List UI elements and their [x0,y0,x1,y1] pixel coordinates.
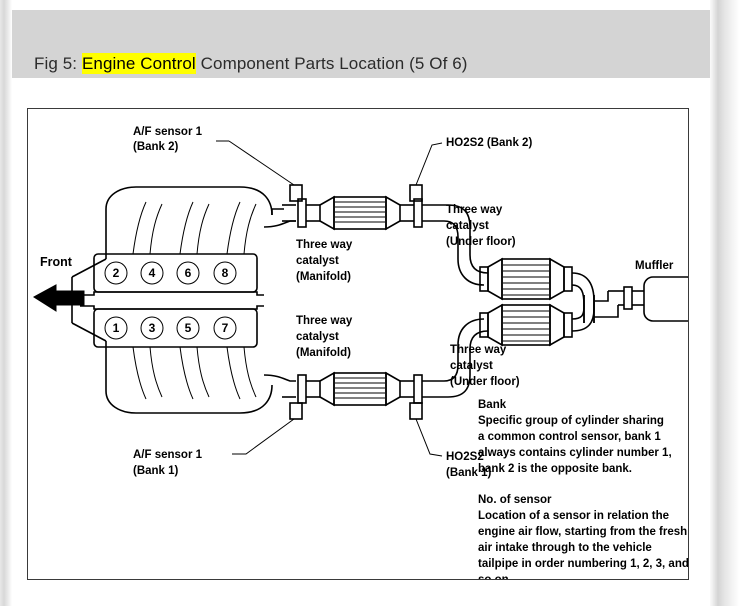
exhaust-collector [584,291,618,323]
af-sensor-bank2-line1: A/F sensor 1 [133,126,203,138]
cylinder-label: 2 [113,266,120,280]
three-way-catalyst-underfloor-top [480,259,594,323]
front-direction-arrow: Front [34,255,84,311]
engine-valley [80,292,264,309]
twc-underfloor-bottom-line1: Three way [450,344,507,356]
note-bank: Bank Specific group of cylinder sharing … [478,399,672,475]
label-ho2s2-bank2: HO2S2 (Bank 2) [446,137,532,149]
twc-manifold-top-line3: (Manifold) [296,271,351,283]
engine-block-outline [72,187,272,413]
exhaust-runners-top [133,202,256,254]
figure-frame: 2 4 6 8 1 3 5 7 Front [27,108,689,580]
twc-underfloor-bottom-line2: catalyst [450,360,493,372]
caption-suffix: Component Parts Location (5 Of 6) [196,54,468,73]
ho2s2-bank2-label: HO2S2 (Bank 2) [446,137,532,149]
page-background: Fig 5: Engine Control Component Parts Lo… [0,0,739,606]
front-label: Front [40,255,73,269]
cylinder-label: 3 [149,321,156,335]
three-way-catalyst-underfloor-bottom [480,295,594,345]
af-sensor-bank2-line2: (Bank 2) [133,141,179,153]
muffler-label: Muffler [635,260,674,272]
twc-manifold-bottom-line1: Three way [296,315,353,327]
label-af-sensor-bank2: A/F sensor 1 (Bank 2) [133,126,203,153]
twc-manifold-bottom-line2: catalyst [296,331,339,343]
ho2s2-bank1-device [410,403,422,419]
note-sensor-number: No. of sensor Location of a sensor in re… [478,494,688,579]
twc-underfloor-top-line1: Three way [446,204,503,216]
label-muffler: Muffler [635,260,674,272]
cylinder-numbers-top: 2 4 6 8 [105,262,236,284]
figure-caption: Fig 5: Engine Control Component Parts Lo… [34,54,468,74]
sensor-note-line: engine air flow, starting from the fresh [478,526,687,538]
label-twc-underfloor-bottom: Three way catalyst (Under floor) [450,344,520,388]
bank-note-line: bank 2 is the opposite bank. [478,463,632,475]
cylinder-label: 4 [149,266,156,280]
af-sensor-bank1-device [290,403,302,419]
caption-prefix: Fig 5: [34,54,82,73]
af-sensor-bank1-line2: (Bank 1) [133,465,179,477]
sensor-note-line: tailpipe in order numbering 1, 2, 3, and [478,558,688,570]
figure-caption-bar: Fig 5: Engine Control Component Parts Lo… [12,10,710,78]
label-twc-manifold-top: Three way catalyst (Manifold) [296,239,353,283]
caption-highlight: Engine Control [82,53,196,74]
twc-underfloor-top-line3: (Under floor) [446,236,516,248]
cylinder-label: 8 [222,266,229,280]
twc-manifold-bottom-line3: (Manifold) [296,347,351,359]
af-sensor-bank1-line1: A/F sensor 1 [133,449,203,461]
sensor-note-line: Location of a sensor in relation the [478,510,669,522]
cylinder-label: 7 [222,321,229,335]
bank-note-line: a common control sensor, bank 1 [478,431,661,443]
muffler-inlet-pipe [608,287,644,309]
twc-manifold-top-line2: catalyst [296,255,339,267]
cylinder-label: 5 [185,321,192,335]
twc-underfloor-top-line2: catalyst [446,220,489,232]
sensor-note-line: so on. [478,574,512,579]
bank-note-line: Specific group of cylinder sharing [478,415,664,427]
muffler-body [644,277,688,321]
cylinder-numbers-bottom: 1 3 5 7 [105,317,236,339]
exhaust-runners-bottom [133,347,256,399]
label-twc-underfloor-top: Three way catalyst (Under floor) [446,204,516,248]
label-twc-manifold-bottom: Three way catalyst (Manifold) [296,315,353,359]
label-af-sensor-bank1: A/F sensor 1 (Bank 1) [133,449,203,477]
sensor-note-line: air intake through to the vehicle [478,542,652,554]
twc-manifold-top-line1: Three way [296,239,353,251]
bank-note-line: always contains cylinder number 1, [478,447,672,459]
engine-exhaust-diagram: 2 4 6 8 1 3 5 7 Front [28,109,688,579]
bank-note-title: Bank [478,399,507,411]
sensor-note-title: No. of sensor [478,494,552,506]
twc-underfloor-bottom-line3: (Under floor) [450,376,520,388]
cylinder-label: 6 [185,266,192,280]
cylinder-label: 1 [113,321,120,335]
